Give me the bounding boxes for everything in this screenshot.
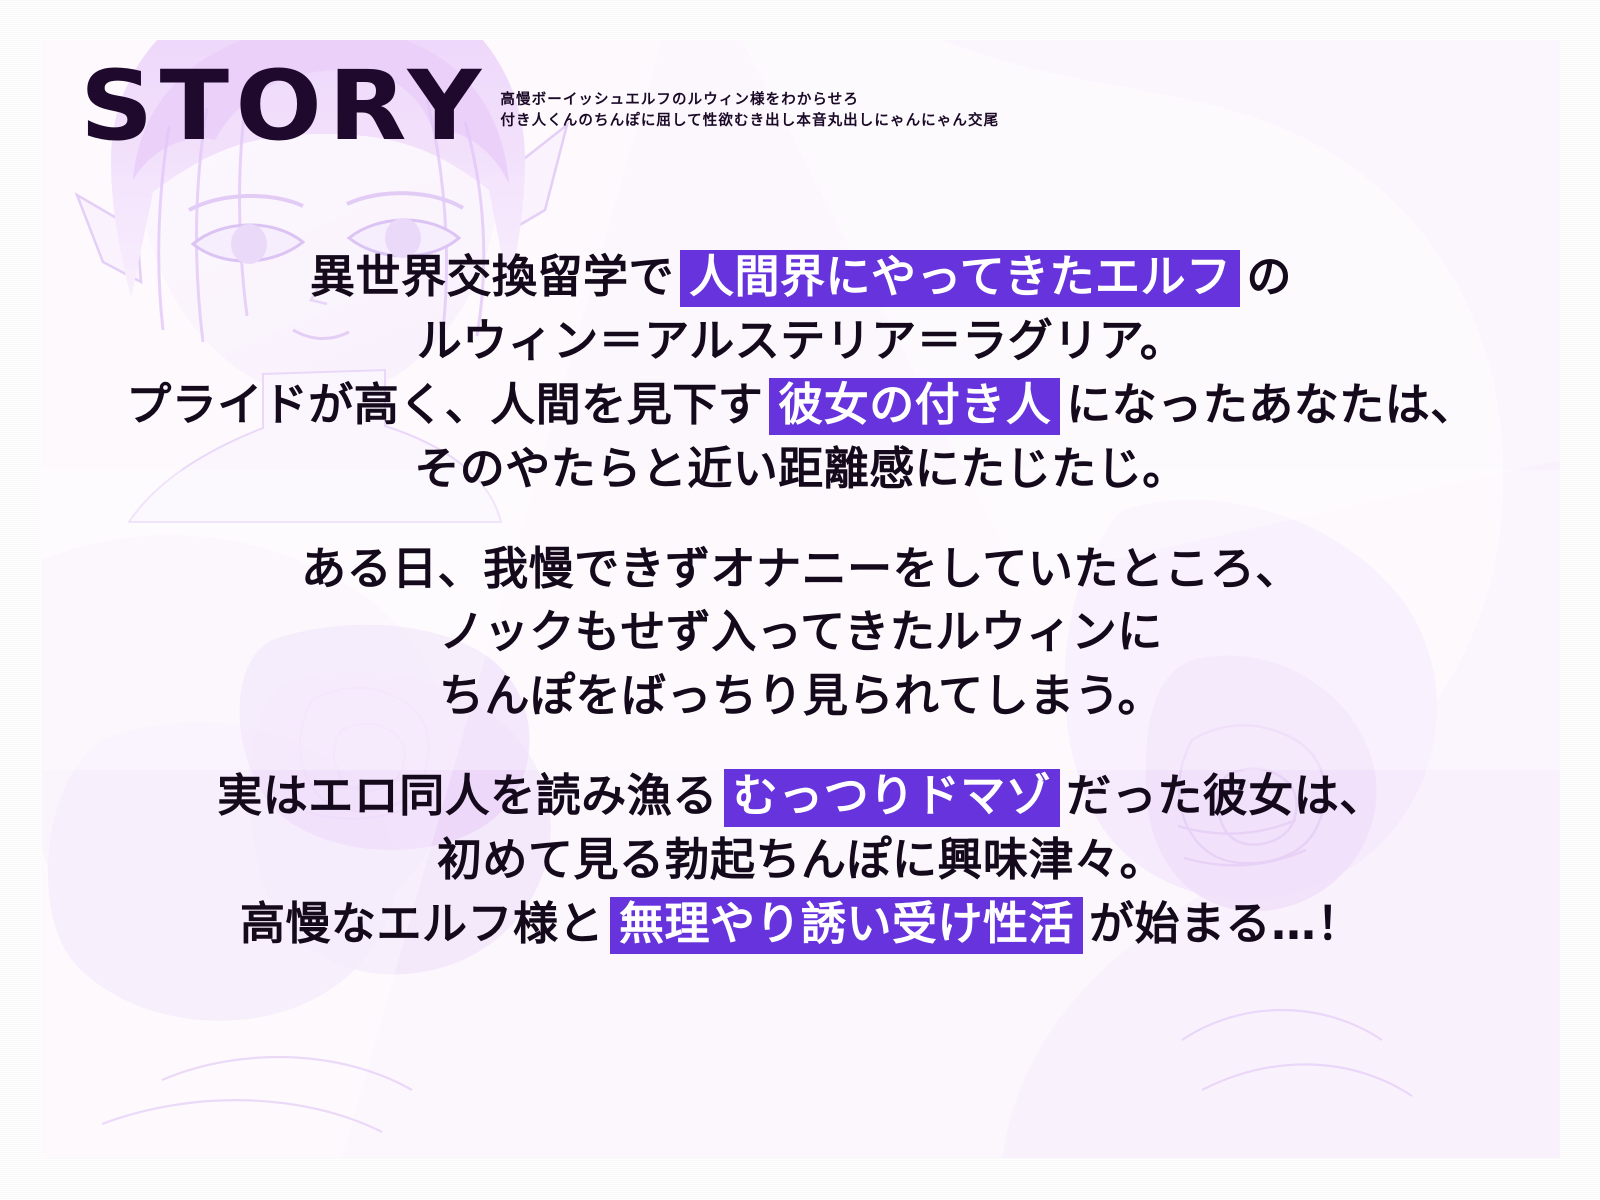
story-text: プライドが高く、人間を見下す — [126, 378, 763, 431]
story-line: ルウィン＝アルステリア＝ラグリア。 — [42, 309, 1560, 373]
story-text: 高慢なエルフ様と — [240, 897, 604, 950]
story-text: ちんぽをばっちり見られてしまう。 — [439, 669, 1163, 722]
story-paragraph: 実はエロ同人を読み漁るむっつりドマゾだった彼女は、初めて見る勃起ちんぽに興味津々… — [42, 764, 1560, 956]
header: STORY 高慢ボーイッシュエルフのルウィン様をわからせろ 付き人くんのちんぽに… — [80, 62, 999, 150]
story-text: になったあなたは、 — [1066, 378, 1476, 431]
story-line: ノックもせず入ってきたルウィンに — [42, 600, 1560, 664]
highlighted-phrase: 人間界にやってきたエルフ — [680, 250, 1240, 307]
story-line: そのやたらと近い距離感にたじたじ。 — [42, 437, 1560, 501]
story-text: ノックもせず入ってきたルウィンに — [439, 605, 1163, 658]
subtitle-line-1: 高慢ボーイッシュエルフのルウィン様をわからせろ — [500, 90, 999, 111]
story-line: プライドが高く、人間を見下す彼女の付き人になったあなたは、 — [42, 373, 1560, 437]
story-line: 初めて見る勃起ちんぽに興味津々。 — [42, 828, 1560, 892]
highlighted-phrase: 無理やり誘い受け性活 — [610, 897, 1083, 954]
story-line: ちんぽをばっちり見られてしまう。 — [42, 664, 1560, 728]
page-title: STORY — [80, 62, 487, 150]
story-text: の — [1246, 250, 1292, 303]
story-line: ある日、我慢できずオナニーをしていたところ、 — [42, 537, 1560, 601]
story-line: 異世界交換留学で人間界にやってきたエルフの — [42, 245, 1560, 309]
subtitle-line-2: 付き人くんのちんぽに屈して性欲むき出し本音丸出しにゃんにゃん交尾 — [500, 111, 999, 132]
highlighted-phrase: 彼女の付き人 — [769, 378, 1060, 435]
story-text: ある日、我慢できずオナニーをしていたところ、 — [301, 542, 1301, 595]
story-panel: STORY 高慢ボーイッシュエルフのルウィン様をわからせろ 付き人くんのちんぽに… — [42, 40, 1560, 1158]
story-line: 高慢なエルフ様と無理やり誘い受け性活が始まる…！ — [42, 892, 1560, 956]
page-root: STORY 高慢ボーイッシュエルフのルウィン様をわからせろ 付き人くんのちんぽに… — [0, 0, 1600, 1200]
story-text: 初めて見る勃起ちんぽに興味津々。 — [437, 833, 1165, 886]
story-paragraph: ある日、我慢できずオナニーをしていたところ、ノックもせず入ってきたルウィンにちん… — [42, 537, 1560, 729]
story-paragraph: 異世界交換留学で人間界にやってきたエルフのルウィン＝アルステリア＝ラグリア。プラ… — [42, 245, 1560, 501]
story-body: 異世界交換留学で人間界にやってきたエルフのルウィン＝アルステリア＝ラグリア。プラ… — [42, 245, 1560, 956]
highlighted-phrase: むっつりドマゾ — [724, 769, 1061, 826]
story-line: 実はエロ同人を読み漁るむっつりドマゾだった彼女は、 — [42, 764, 1560, 828]
story-text: だった彼女は、 — [1066, 769, 1385, 822]
story-text: が始まる…！ — [1089, 897, 1362, 950]
subtitle-block: 高慢ボーイッシュエルフのルウィン様をわからせろ 付き人くんのちんぽに屈して性欲む… — [500, 90, 999, 132]
story-text: 実はエロ同人を読み漁る — [217, 769, 718, 822]
story-text: ルウィン＝アルステリア＝ラグリア。 — [417, 314, 1186, 367]
story-text: そのやたらと近い距離感にたじたじ。 — [414, 442, 1188, 495]
story-text: 異世界交換留学で — [310, 250, 674, 303]
